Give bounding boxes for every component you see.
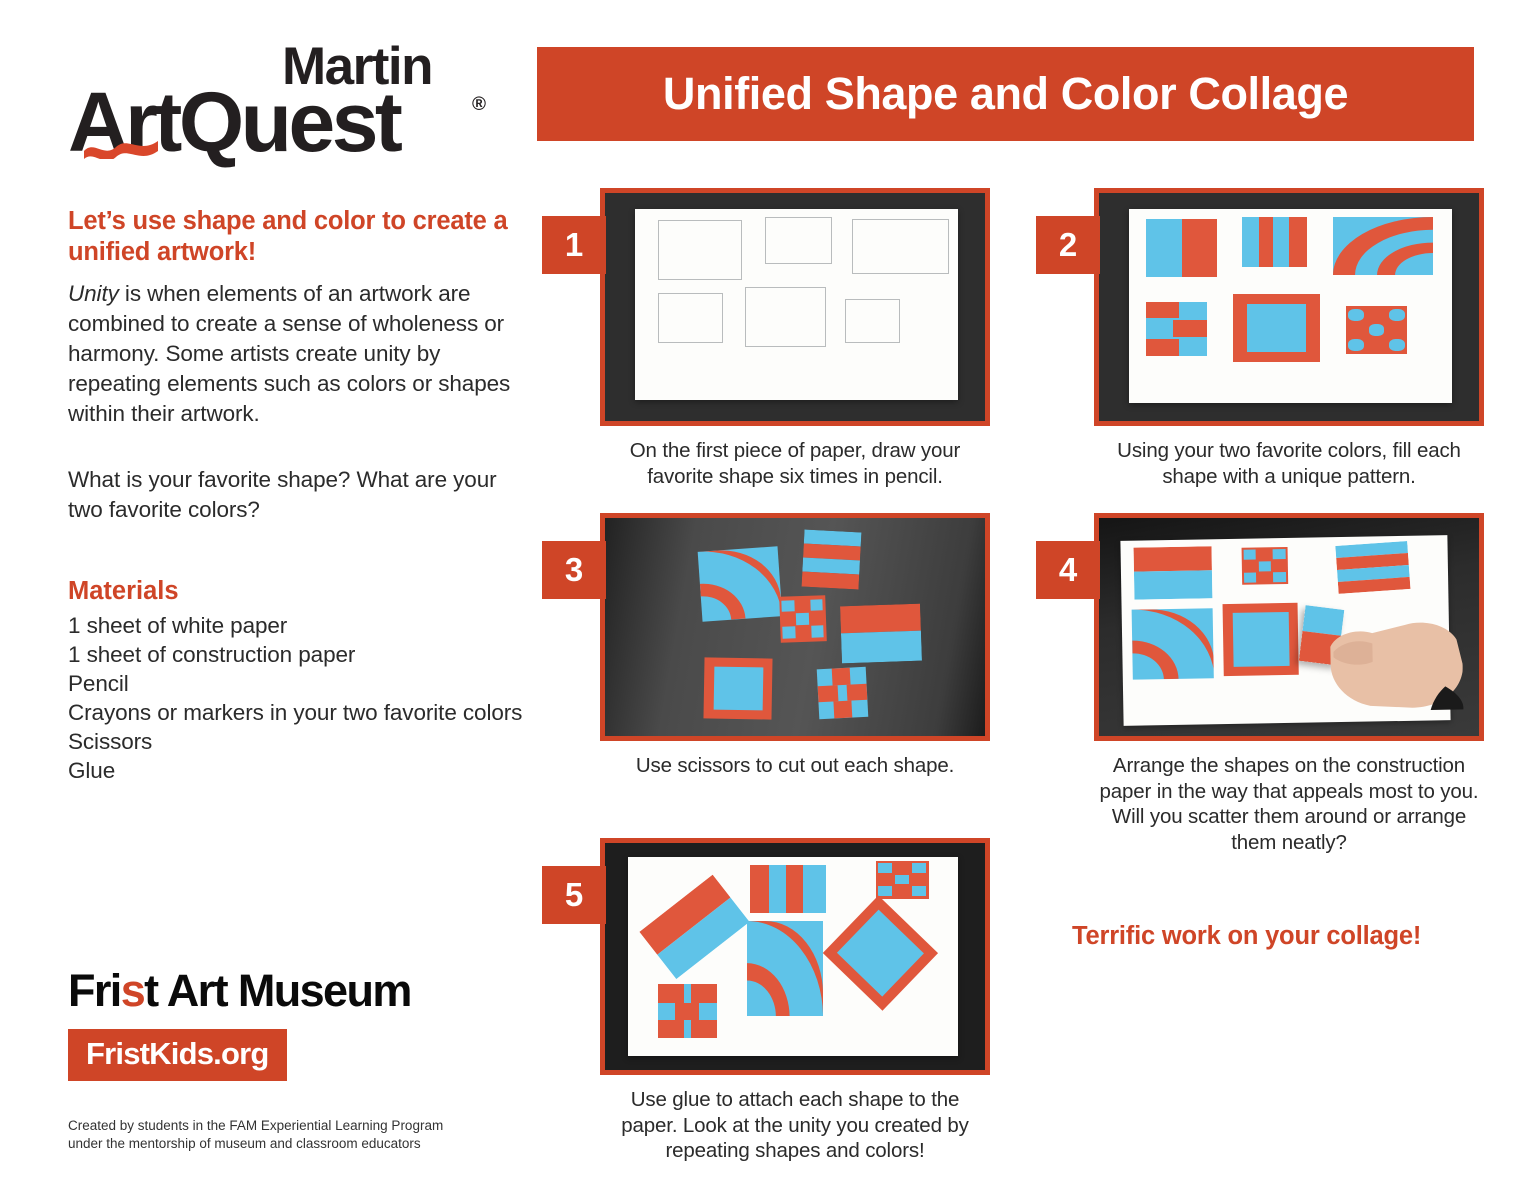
frist-branding: Frist Art Museum FristKids.org Created b… <box>68 968 530 1153</box>
step-1-photo <box>600 188 990 426</box>
list-item: Pencil <box>68 669 530 698</box>
unity-term: Unity <box>68 281 119 306</box>
step-3-caption: Use scissors to cut out each shape. <box>600 753 990 779</box>
step-number-badge: 1 <box>542 216 606 274</box>
step-number-badge: 2 <box>1036 216 1100 274</box>
step-3: 3 <box>600 513 990 779</box>
intro-heading: Let’s use shape and color to create a un… <box>68 206 530 268</box>
step-2: 2 <box>1094 188 1484 489</box>
frist-logo-accent-s: s <box>121 965 144 1016</box>
list-item: Glue <box>68 756 530 785</box>
frist-logo-pre: Fri <box>68 965 121 1016</box>
list-item: Crayons or markers in your two favorite … <box>68 698 530 727</box>
step-4-caption: Arrange the shapes on the construction p… <box>1094 753 1484 856</box>
poster-page: Martin ArtQuest ® Let’s use shape and co… <box>0 0 1536 1187</box>
materials-list: 1 sheet of white paper 1 sheet of constr… <box>68 611 530 785</box>
step-3-photo <box>600 513 990 741</box>
step-number-badge: 4 <box>1036 541 1100 599</box>
left-column: Martin ArtQuest ® Let’s use shape and co… <box>68 40 530 785</box>
martin-artquest-logo: Martin ArtQuest ® <box>68 40 508 162</box>
swoosh-icon <box>84 138 158 159</box>
credit-text: Created by students in the FAM Experient… <box>68 1117 530 1153</box>
list-item: 1 sheet of white paper <box>68 611 530 640</box>
step-1-caption: On the first piece of paper, draw your f… <box>600 438 990 489</box>
frist-logo-post: t Art Museum <box>144 965 411 1016</box>
step-2-photo <box>1094 188 1484 426</box>
step-2-caption: Using your two favorite colors, fill eac… <box>1094 438 1484 489</box>
closing-message: Terrific work on your collage! <box>1072 922 1421 951</box>
title-banner: Unified Shape and Color Collage <box>537 47 1474 141</box>
page-title: Unified Shape and Color Collage <box>663 68 1348 120</box>
step-4: 4 <box>1094 513 1484 856</box>
frist-art-museum-logo: Frist Art Museum <box>68 968 530 1013</box>
materials-heading: Materials <box>68 577 530 606</box>
list-item: 1 sheet of construction paper <box>68 640 530 669</box>
step-5: 5 <box>600 838 990 1164</box>
fristkids-url-badge[interactable]: FristKids.org <box>68 1029 287 1081</box>
intro-paragraph: Unity is when elements of an artwork are… <box>68 279 530 429</box>
step-number-badge: 3 <box>542 541 606 599</box>
intro-question: What is your favorite shape? What are yo… <box>68 465 530 525</box>
step-4-photo <box>1094 513 1484 741</box>
step-5-caption: Use glue to attach each shape to the pap… <box>600 1087 990 1164</box>
step-1: 1 On the first piece of paper, draw your… <box>600 188 990 489</box>
list-item: Scissors <box>68 727 530 756</box>
credit-line-2: under the mentorship of museum and class… <box>68 1135 530 1153</box>
intro-paragraph-rest: is when elements of an artwork are combi… <box>68 281 510 426</box>
step-5-photo <box>600 838 990 1075</box>
registered-mark-icon: ® <box>472 94 486 116</box>
step-number-badge: 5 <box>542 866 606 924</box>
hand-illustration <box>1311 585 1464 717</box>
credit-line-1: Created by students in the FAM Experient… <box>68 1117 530 1135</box>
